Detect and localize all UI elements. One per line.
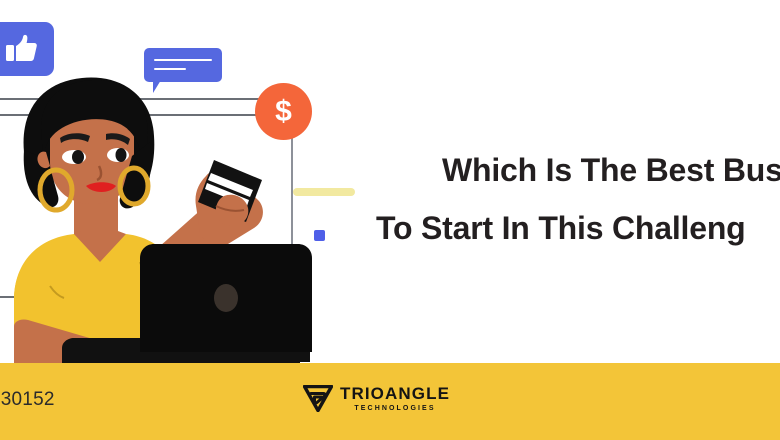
trioangle-logo[interactable]: TRIOANGLE TECHNOLOGIES	[303, 385, 450, 412]
footer-id-number: 630152	[0, 389, 55, 411]
person-illustration	[0, 0, 330, 370]
logo-subtitle: TECHNOLOGIES	[340, 405, 450, 412]
headline-line-2: To Start In This Challeng	[376, 199, 780, 257]
trioangle-mark-icon	[303, 385, 333, 412]
headline: Which Is The Best Bus To Start In This C…	[376, 141, 780, 257]
logo-name: TRIOANGLE	[340, 385, 450, 402]
logo-wordmark: TRIOANGLE TECHNOLOGIES	[340, 385, 450, 412]
promo-banner: $	[0, 0, 780, 440]
headline-line-1: Which Is The Best Bus	[376, 141, 780, 199]
